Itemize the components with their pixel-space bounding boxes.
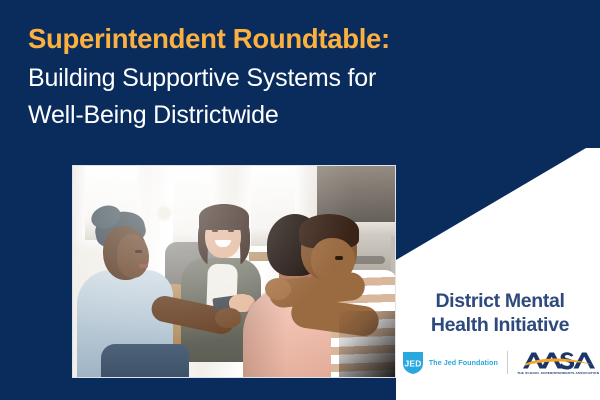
photo-counselor-hair-top [199, 204, 249, 230]
photo-woman-face [117, 234, 149, 278]
photo-woman-lips [139, 264, 148, 268]
photo-woman-eye [135, 250, 142, 253]
photo-woman-jeans [101, 344, 189, 378]
photo-child-face [311, 238, 355, 282]
headline-line-2: Building Supportive Systems for [28, 60, 548, 96]
program-lockup: District Mental Health Initiative JED Th… [404, 290, 596, 375]
promo-graphic-canvas: Superintendent Roundtable: Building Supp… [0, 0, 600, 400]
jed-foundation-logo: JED The Jed Foundation [402, 351, 507, 375]
program-title-line-1: District Mental [404, 290, 596, 314]
program-title-line-2: Health Initiative [404, 314, 596, 338]
partner-logo-row: JED The Jed Foundation THE SCHOOL SU [404, 351, 596, 375]
aasa-wordmark-icon [521, 351, 595, 370]
photo-child-hand [265, 278, 291, 300]
headline-line-3: Well-Being Districtwide [28, 97, 548, 133]
hero-photo-scene [73, 166, 395, 377]
photo-counselor-eye-right [228, 229, 234, 232]
aasa-tagline: THE SCHOOL SUPERINTENDENTS ASSOCIATION [517, 371, 599, 375]
jed-shield-icon: JED [402, 351, 424, 375]
jed-foundation-wordmark: The Jed Foundation [429, 358, 498, 367]
photo-corner-shadow [339, 311, 395, 377]
photo-counselor-eye-left [212, 229, 218, 232]
photo-child-eye [335, 256, 343, 260]
hero-photo: Two adults and a child sitting together … [72, 165, 396, 378]
headline-block: Superintendent Roundtable: Building Supp… [28, 22, 548, 133]
aasa-logo: THE SCHOOL SUPERINTENDENTS ASSOCIATION [508, 351, 598, 375]
photo-lamp [157, 206, 171, 220]
program-title: District Mental Health Initiative [404, 290, 596, 338]
headline-line-1: Superintendent Roundtable: [28, 22, 548, 56]
svg-text:JED: JED [404, 358, 421, 368]
photo-woman-hand [215, 308, 241, 328]
